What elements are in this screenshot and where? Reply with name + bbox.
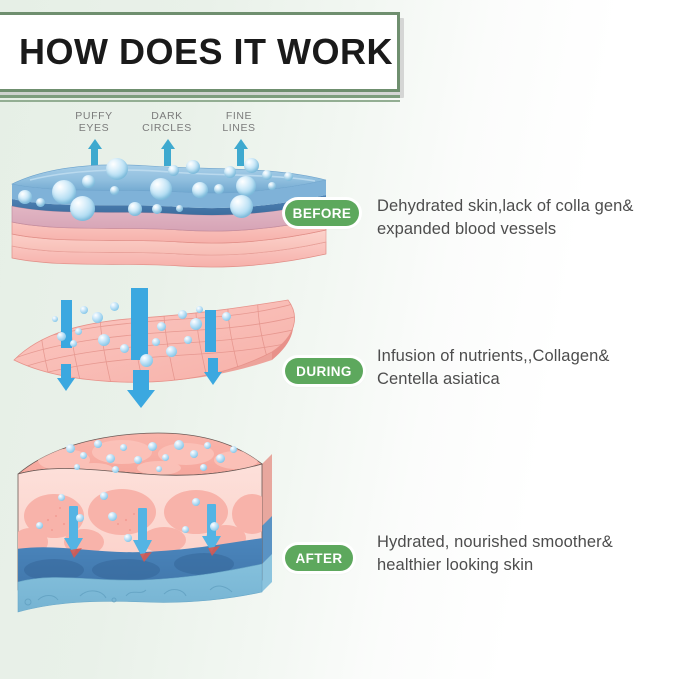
droplet — [106, 454, 115, 463]
droplet — [182, 526, 189, 533]
bubble — [110, 186, 119, 195]
droplet — [70, 340, 77, 347]
description-during: Infusion of nutrients,,Collagen& Centell… — [377, 345, 677, 391]
droplet — [192, 498, 200, 506]
droplet — [120, 444, 127, 451]
bubble — [36, 198, 45, 207]
droplet — [174, 440, 184, 450]
after-skin-block-svg — [14, 430, 276, 620]
droplet — [80, 306, 88, 314]
bubble — [128, 202, 142, 216]
droplet — [210, 522, 219, 531]
droplet — [178, 310, 187, 319]
droplet — [140, 354, 153, 367]
droplet — [58, 494, 65, 501]
droplet — [100, 492, 108, 500]
title-underline-bottom — [0, 100, 400, 102]
droplet — [196, 306, 203, 313]
droplet — [120, 344, 129, 353]
badge-during: DURING — [285, 358, 363, 384]
bubble — [262, 170, 272, 180]
bubble — [244, 158, 259, 173]
description-after: Hydrated, nourished smoother& healthier … — [377, 531, 677, 577]
droplet — [110, 302, 119, 311]
droplet — [134, 456, 142, 464]
droplet — [200, 464, 207, 471]
after-illustration — [14, 430, 276, 620]
badge-before: BEFORE — [285, 200, 359, 226]
bubble — [236, 176, 256, 196]
droplet — [156, 466, 162, 472]
droplet — [152, 338, 160, 346]
callout-label-dark-circles: DARK CIRCLES — [132, 110, 202, 134]
bubble — [284, 172, 293, 181]
bubble — [106, 158, 128, 180]
description-before: Dehydrated skin,lack of colla gen& expan… — [377, 195, 677, 241]
arrow-down-left-icon — [57, 364, 75, 391]
bubble — [224, 166, 236, 178]
bubble — [176, 205, 183, 212]
bubble — [268, 182, 276, 190]
bubble — [18, 190, 32, 204]
droplet — [216, 454, 225, 463]
droplet — [52, 316, 58, 322]
bubble — [168, 165, 179, 176]
droplet — [166, 346, 177, 357]
droplet — [108, 512, 117, 521]
infusion-bar-icon — [131, 288, 148, 360]
droplet — [190, 450, 198, 458]
droplet — [162, 454, 169, 461]
droplet — [230, 446, 237, 453]
droplet — [57, 332, 66, 341]
bubble — [82, 175, 95, 188]
droplet — [112, 466, 119, 473]
infusion-bar-icon — [205, 310, 216, 352]
droplet — [190, 318, 202, 330]
bubble — [214, 184, 224, 194]
bubble — [230, 195, 253, 218]
droplet — [66, 444, 75, 453]
title-box: HOW DOES IT WORK — [0, 12, 400, 92]
page-title: HOW DOES IT WORK — [19, 31, 393, 73]
arrow-down-center-icon — [127, 370, 155, 408]
droplet — [222, 312, 231, 321]
callout-label-puffy-eyes: PUFFY EYES — [62, 110, 126, 134]
droplet — [124, 534, 132, 542]
droplet — [80, 452, 87, 459]
during-illustration — [0, 288, 360, 418]
bubble — [70, 196, 95, 221]
bubble — [192, 182, 208, 198]
bubble — [152, 204, 162, 214]
badge-after: AFTER — [285, 545, 353, 571]
bubble — [186, 160, 200, 174]
droplet — [184, 336, 192, 344]
title-underline-top — [0, 95, 400, 98]
droplet — [36, 522, 43, 529]
droplet — [204, 442, 211, 449]
droplet — [98, 334, 110, 346]
droplet — [157, 322, 166, 331]
during-skin-sheet-svg — [0, 288, 360, 418]
droplet — [92, 312, 103, 323]
infographic-root: HOW DOES IT WORK PUFFY EYES DARK CIRCLES… — [0, 0, 679, 679]
arrow-down-right-icon — [204, 358, 222, 385]
droplet — [75, 328, 82, 335]
bubble — [150, 178, 172, 200]
droplet — [148, 442, 157, 451]
droplet — [94, 440, 102, 448]
callout-label-fine-lines: FINE LINES — [208, 110, 270, 134]
droplet — [74, 464, 80, 470]
droplet — [76, 514, 84, 522]
